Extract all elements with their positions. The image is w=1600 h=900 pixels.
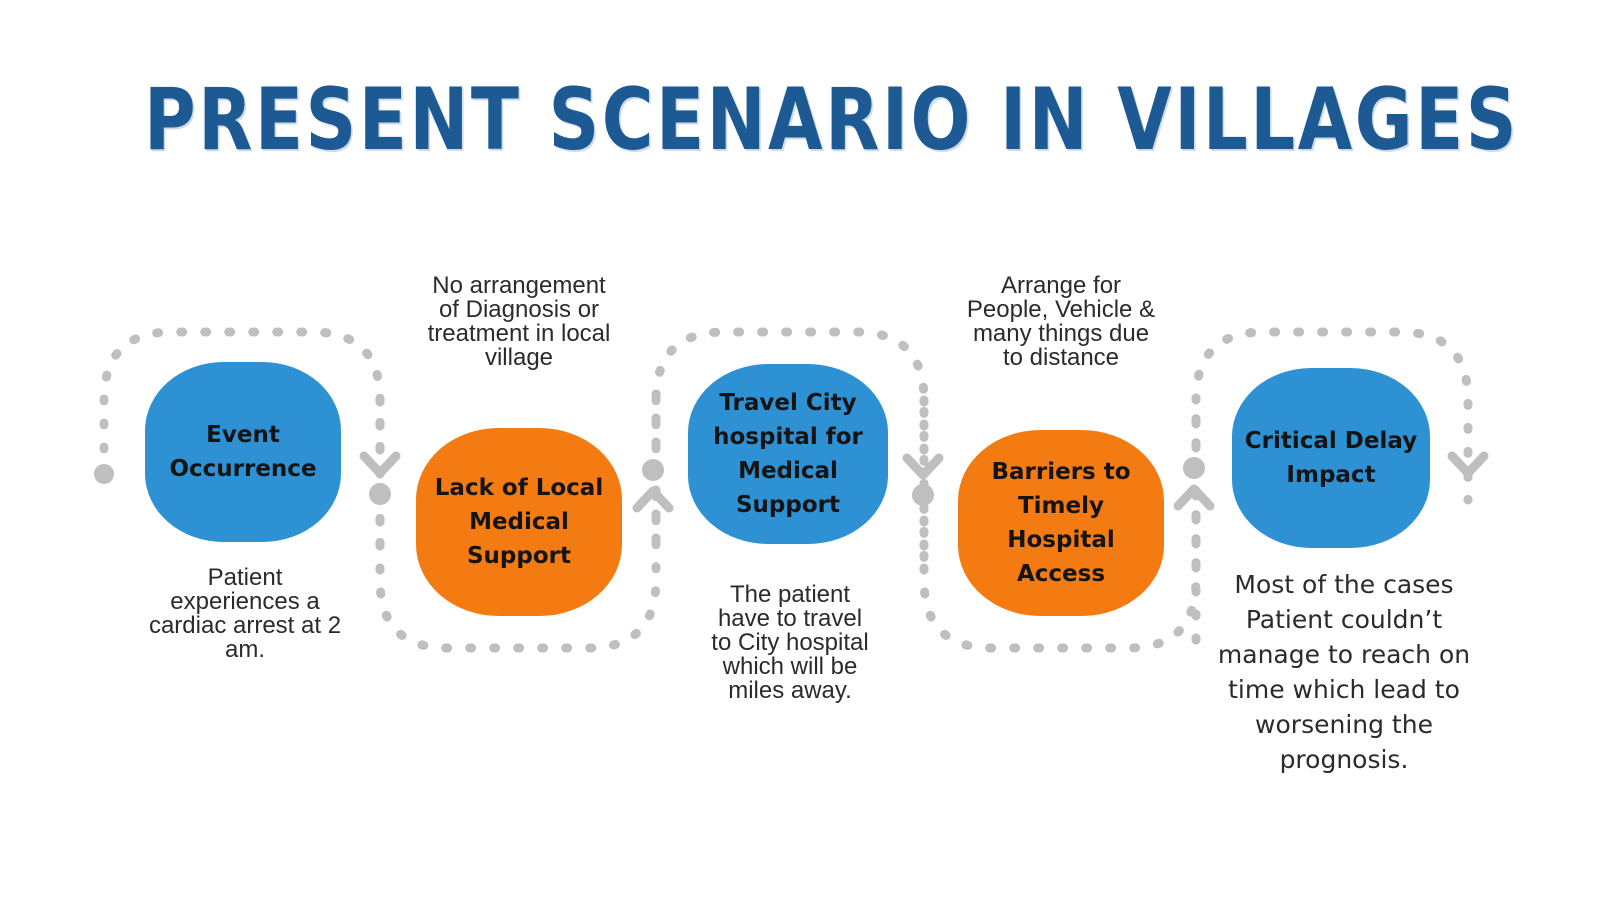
node-event-occurrence[interactable]: Event Occurrence [145, 362, 341, 542]
node-barriers-to-timely-hospital-access[interactable]: Barriers to Timely Hospital Access [958, 430, 1164, 616]
node-label: Event Occurrence [159, 418, 326, 486]
node-label: Travel City hospital for Medical Support [703, 386, 873, 522]
node-label: Lack of Local Medical Support [425, 471, 613, 573]
caption-lack-of-local-medical-support: No arrangement of Diagnosis or treatment… [396, 274, 642, 370]
caption-critical-delay-impact: Most of the cases Patient couldn’t manag… [1216, 567, 1472, 777]
infographic-canvas: PRESENT SCENARIO IN VILLAGES [0, 0, 1600, 900]
node-label: Barriers to Timely Hospital Access [981, 455, 1140, 591]
node-lack-of-local-medical-support[interactable]: Lack of Local Medical Support [416, 428, 622, 616]
node-travel-city-hospital[interactable]: Travel City hospital for Medical Support [688, 364, 888, 544]
node-label: Critical Delay Impact [1235, 424, 1427, 492]
caption-travel-city-hospital: The patient have to travel to City hospi… [690, 583, 890, 703]
node-critical-delay-impact[interactable]: Critical Delay Impact [1232, 368, 1430, 548]
caption-event-occurrence: Patient experiences a cardiac arrest at … [120, 566, 370, 662]
caption-barriers-to-timely-hospital-access: Arrange for People, Vehicle & many thing… [938, 274, 1184, 370]
